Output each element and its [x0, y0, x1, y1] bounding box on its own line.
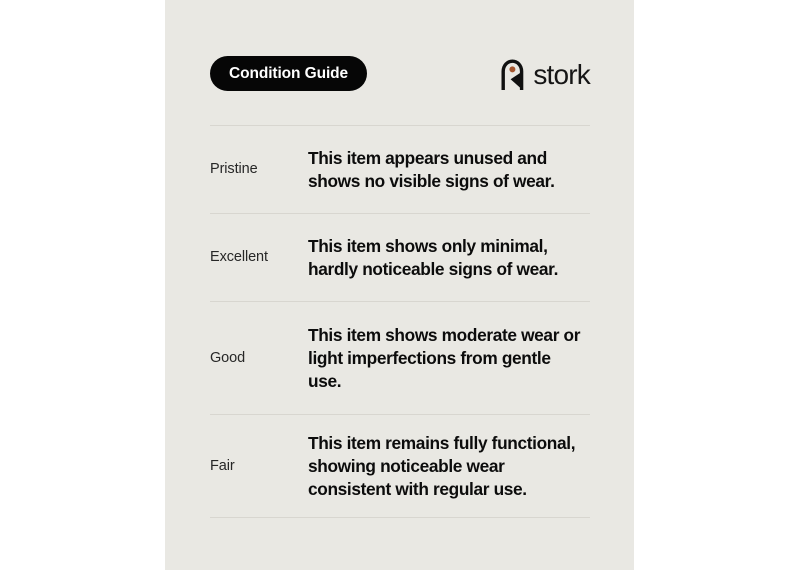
- condition-guide-pill[interactable]: Condition Guide: [210, 56, 367, 91]
- condition-guide-table: Pristine This item appears unused and sh…: [210, 125, 590, 518]
- table-row: Pristine This item appears unused and sh…: [210, 126, 590, 213]
- table-divider: [210, 517, 590, 518]
- table-row: Excellent This item shows only minimal, …: [210, 214, 590, 301]
- condition-guide-pill-label: Condition Guide: [229, 66, 348, 82]
- condition-label: Pristine: [210, 160, 308, 179]
- condition-description: This item shows moderate wear or light i…: [308, 324, 590, 393]
- card-header: Condition Guide stork: [210, 56, 590, 92]
- condition-description: This item remains fully functional, show…: [308, 432, 590, 501]
- condition-description: This item shows only minimal, hardly not…: [308, 235, 590, 281]
- condition-label: Good: [210, 349, 308, 368]
- brand-logo: stork: [500, 56, 590, 92]
- brand-name-label: stork: [533, 61, 590, 89]
- condition-description: This item appears unused and shows no vi…: [308, 147, 590, 193]
- table-row: Good This item shows moderate wear or li…: [210, 302, 590, 414]
- page-root: Condition Guide stork Pristine This item…: [0, 0, 800, 570]
- stork-arch-mark-icon: [500, 59, 525, 90]
- condition-guide-card: Condition Guide stork Pristine This item…: [165, 0, 634, 570]
- condition-label: Fair: [210, 457, 308, 476]
- table-row: Fair This item remains fully functional,…: [210, 415, 590, 517]
- condition-label: Excellent: [210, 248, 308, 267]
